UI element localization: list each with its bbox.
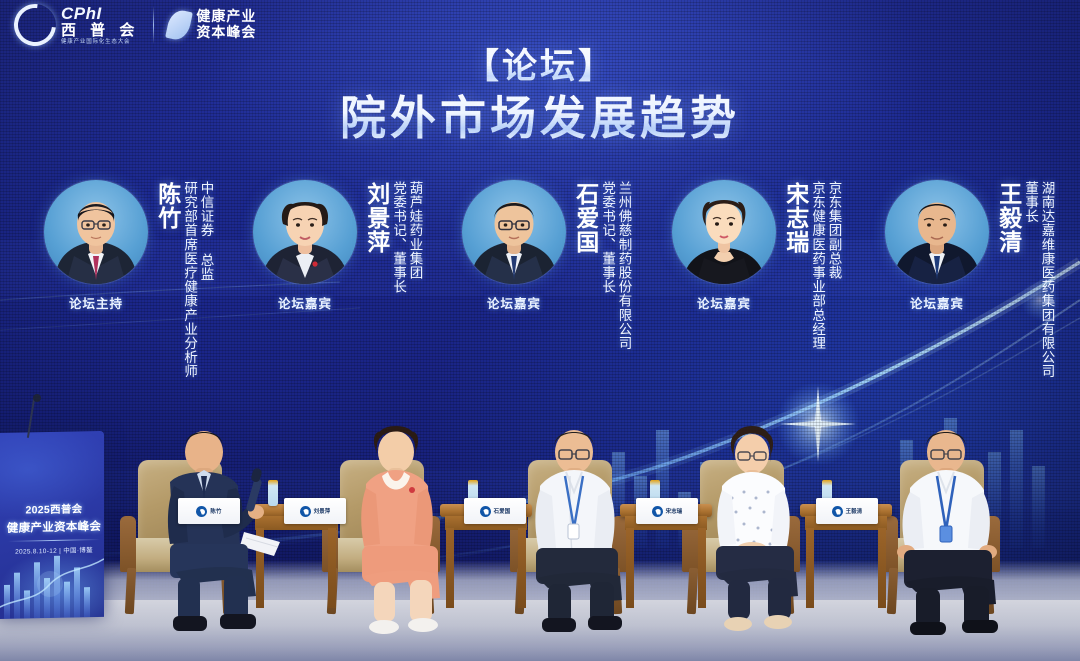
panelist-2-role: 论坛嘉宾: [253, 293, 357, 312]
nameplate-3-text: 石爱国: [494, 507, 511, 515]
logo-cphi-latin: CPhI: [61, 5, 139, 22]
logo-cphi-tagline: 健康产业国际化生态大会: [61, 40, 139, 46]
panelist-4-title-line-2: 京东健康医药事业部总经理: [810, 181, 825, 350]
seated-person-4: [690, 420, 828, 634]
panelist-card-3: 兰州佛慈制药股份有限公司 党委书记、董事长 石爱国: [462, 180, 631, 350]
seated-person-3: [508, 418, 654, 636]
nameplate-2-text: 刘景萍: [314, 507, 331, 515]
panelist-card-2: 葫芦娃药业集团 党委书记、董事长 刘景萍: [253, 180, 422, 312]
panelist-2-name: 刘景萍: [364, 182, 388, 254]
nameplate-1-text: 陈竹: [210, 507, 221, 515]
nameplate-4: 宋志瑞: [636, 498, 698, 524]
panelist-2-title-line-2: 党委书记、董事长: [391, 181, 406, 294]
header-logos: CPhI 西 普 会 健康产业国际化生态大会 健康产业 资本峰会: [14, 4, 256, 46]
panelist-3-title-line-1: 兰州佛慈制药股份有限公司: [616, 181, 631, 350]
panelist-5-avatar: [885, 180, 989, 284]
seated-person-2: [330, 418, 470, 636]
seated-person-5: [878, 418, 1028, 636]
panelist-5-name: 王毅清: [996, 182, 1020, 254]
panelist-4-avatar: [672, 180, 776, 284]
leaf-logo-icon: [165, 8, 193, 42]
panelist-1-titles: 中信证券 总监 研究部首席医疗健康产业分析师: [182, 181, 214, 378]
logo-cphi-chinese: 西 普 会: [61, 23, 139, 38]
nameplate-logo-icon: [196, 506, 207, 517]
nameplate-5: 王毅清: [816, 498, 878, 524]
panelist-3-titles: 兰州佛慈制药股份有限公司 党委书记、董事长: [600, 181, 632, 350]
forum-title-line2: 院外市场发展趋势: [0, 91, 1080, 146]
logo-health-summit: 健康产业 资本峰会: [168, 9, 256, 40]
panelist-3-name: 石爱国: [573, 182, 597, 254]
nameplate-1: 陈竹: [178, 498, 240, 524]
panelist-3-avatar: [462, 180, 566, 284]
podium-microphone-icon: [33, 394, 41, 402]
panelist-1-avatar: [44, 180, 148, 284]
logo-health-line2: 资本峰会: [196, 25, 256, 41]
panelist-card-1: 中信证券 总监 研究部首席医疗健康产业分析师 陈竹: [44, 180, 213, 378]
nameplate-logo-icon: [832, 506, 843, 517]
panelist-4-name: 宋志瑞: [783, 182, 807, 254]
nameplate-2: 刘景萍: [284, 498, 346, 524]
panelist-2-titles: 葫芦娃药业集团 党委书记、董事长: [391, 181, 423, 294]
water-bottle-1: [268, 480, 278, 506]
stage-seating-area: 陈竹 刘景萍 石爱国 宋志瑞 王毅清: [0, 400, 1080, 630]
panelist-4-role: 论坛嘉宾: [672, 293, 776, 312]
panelist-card-5: 湖南达嘉维康医药集团有限公司 董事长 王毅清: [885, 180, 1054, 378]
panelist-1-title-line-1: 中信证券 总监: [198, 181, 213, 378]
forum-title-block: 【论坛】 院外市场发展趋势: [0, 46, 1080, 146]
panelist-1-title-line-2: 研究部首席医疗健康产业分析师: [182, 181, 197, 378]
logo-cphi: CPhI 西 普 会 健康产业国际化生态大会: [14, 4, 139, 46]
panelist-1-role: 论坛主持: [44, 293, 148, 312]
panelist-card-4: 京东集团副总裁 京东健康医药事业部总经理 宋志瑞: [672, 180, 841, 350]
panelist-2-title-line-1: 葫芦娃药业集团: [407, 181, 422, 294]
panelist-5-title-line-1: 湖南达嘉维康医药集团有限公司: [1039, 181, 1054, 378]
panelist-3-role: 论坛嘉宾: [462, 293, 566, 312]
panelist-1-name: 陈竹: [155, 182, 179, 230]
logo-health-line1: 健康产业: [196, 9, 256, 25]
nameplate-4-text: 宋志瑞: [666, 507, 683, 515]
forum-title-line1: 【论坛】: [0, 46, 1080, 89]
panelist-list: 中信证券 总监 研究部首席医疗健康产业分析师 陈竹: [0, 180, 1080, 430]
nameplate-3: 石爱国: [464, 498, 526, 524]
conference-stage-photo: CPhI 西 普 会 健康产业国际化生态大会 健康产业 资本峰会 【论坛】 院外…: [0, 0, 1080, 661]
seated-person-1: [140, 420, 290, 635]
nameplate-5-text: 王毅清: [846, 507, 863, 515]
logo-divider: [153, 6, 154, 44]
panelist-2-avatar: [253, 180, 357, 284]
panelist-4-title-line-1: 京东集团副总裁: [826, 181, 841, 350]
panelist-3-title-line-2: 党委书记、董事长: [600, 181, 615, 350]
panelist-5-title-line-2: 董事长: [1023, 181, 1038, 378]
nameplate-logo-icon: [652, 506, 663, 517]
nameplate-logo-icon: [300, 506, 311, 517]
panelist-4-titles: 京东集团副总裁 京东健康医药事业部总经理: [810, 181, 842, 350]
panelist-5-role: 论坛嘉宾: [885, 293, 989, 312]
panelist-5-titles: 湖南达嘉维康医药集团有限公司 董事长: [1023, 181, 1055, 378]
nameplate-logo-icon: [480, 506, 491, 517]
